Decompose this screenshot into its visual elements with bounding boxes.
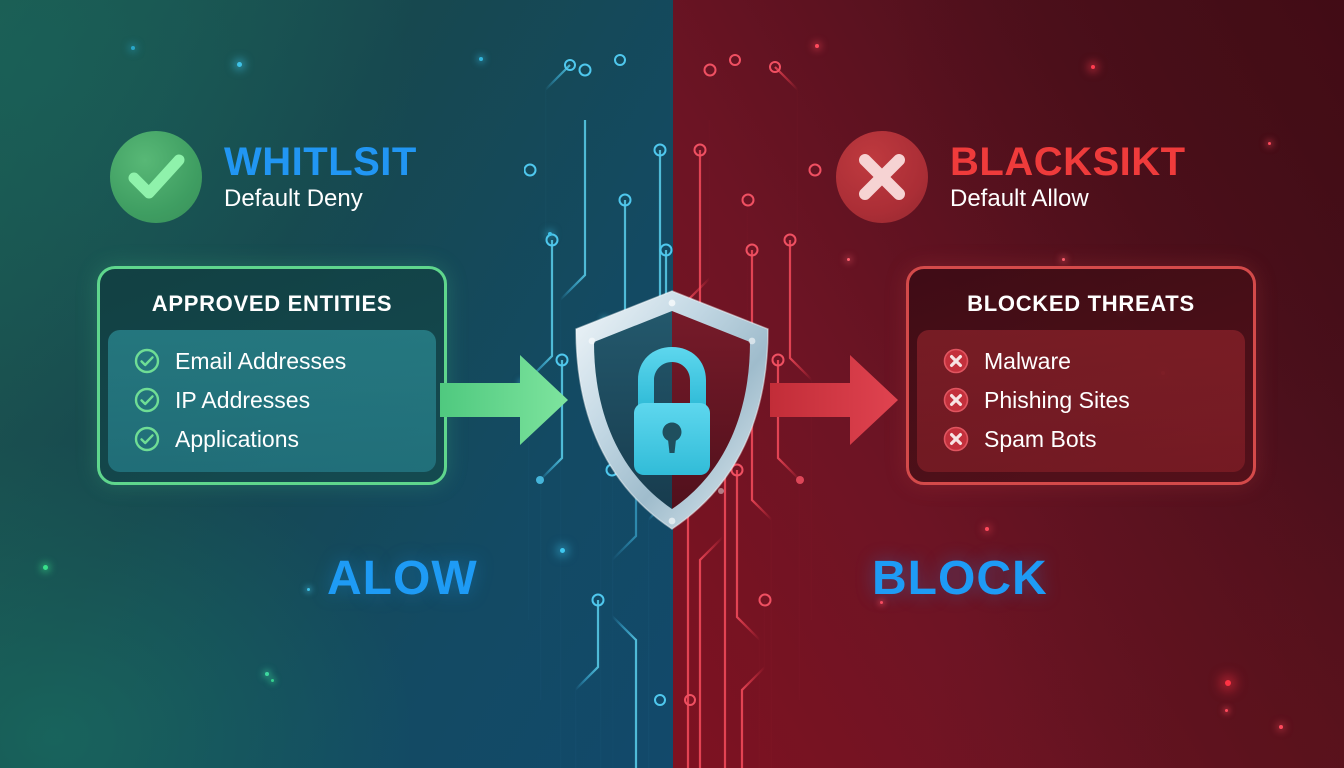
list-item: IP Addresses	[112, 381, 432, 420]
list-item-label: Applications	[175, 425, 299, 454]
list-item: Malware	[921, 342, 1241, 381]
x-circle-icon	[943, 387, 969, 413]
blacklist-title: BLACKSIKT	[950, 141, 1186, 183]
blocked-threats-heading: BLOCKED THREATS	[917, 277, 1245, 330]
allow-label: ALOW	[327, 551, 478, 606]
blacklist-subtitle: Default Allow	[950, 185, 1186, 214]
list-item: Email Addresses	[112, 342, 432, 381]
blocked-threats-list: Malware Phishing Sites	[917, 330, 1245, 472]
block-label: BLOCK	[872, 551, 1048, 606]
list-item-label: Malware	[984, 347, 1071, 376]
infographic-canvas: WHITLSIT Default Deny BLACKSIKT Default …	[0, 0, 1344, 768]
list-item-label: Phishing Sites	[984, 386, 1130, 415]
list-item: Applications	[112, 420, 432, 459]
list-item-label: Email Addresses	[175, 347, 346, 376]
check-circle-outline-icon	[134, 387, 160, 413]
x-circle-icon	[943, 426, 969, 452]
list-item: Phishing Sites	[921, 381, 1241, 420]
x-circle-icon	[943, 348, 969, 374]
list-item: Spam Bots	[921, 420, 1241, 459]
check-circle-outline-icon	[134, 426, 160, 452]
approved-entities-heading: APPROVED ENTITIES	[108, 277, 436, 330]
whitelist-header: WHITLSIT Default Deny	[110, 131, 417, 223]
list-item-label: Spam Bots	[984, 425, 1097, 454]
check-circle-outline-icon	[134, 348, 160, 374]
whitelist-title: WHITLSIT	[224, 141, 417, 183]
approved-entities-list: Email Addresses IP Addresses	[108, 330, 436, 472]
blocked-threats-card: BLOCKED THREATS Malware	[906, 266, 1256, 485]
approved-entities-card: APPROVED ENTITIES Email Addresses	[97, 266, 447, 485]
whitelist-subtitle: Default Deny	[224, 185, 417, 214]
arrow-right-icon	[770, 351, 900, 449]
x-circle-icon	[836, 131, 928, 223]
arrow-right-icon	[440, 351, 570, 449]
list-item-label: IP Addresses	[175, 386, 310, 415]
check-circle-icon	[110, 131, 202, 223]
shield-icon	[566, 285, 778, 535]
blacklist-header: BLACKSIKT Default Allow	[836, 131, 1186, 223]
